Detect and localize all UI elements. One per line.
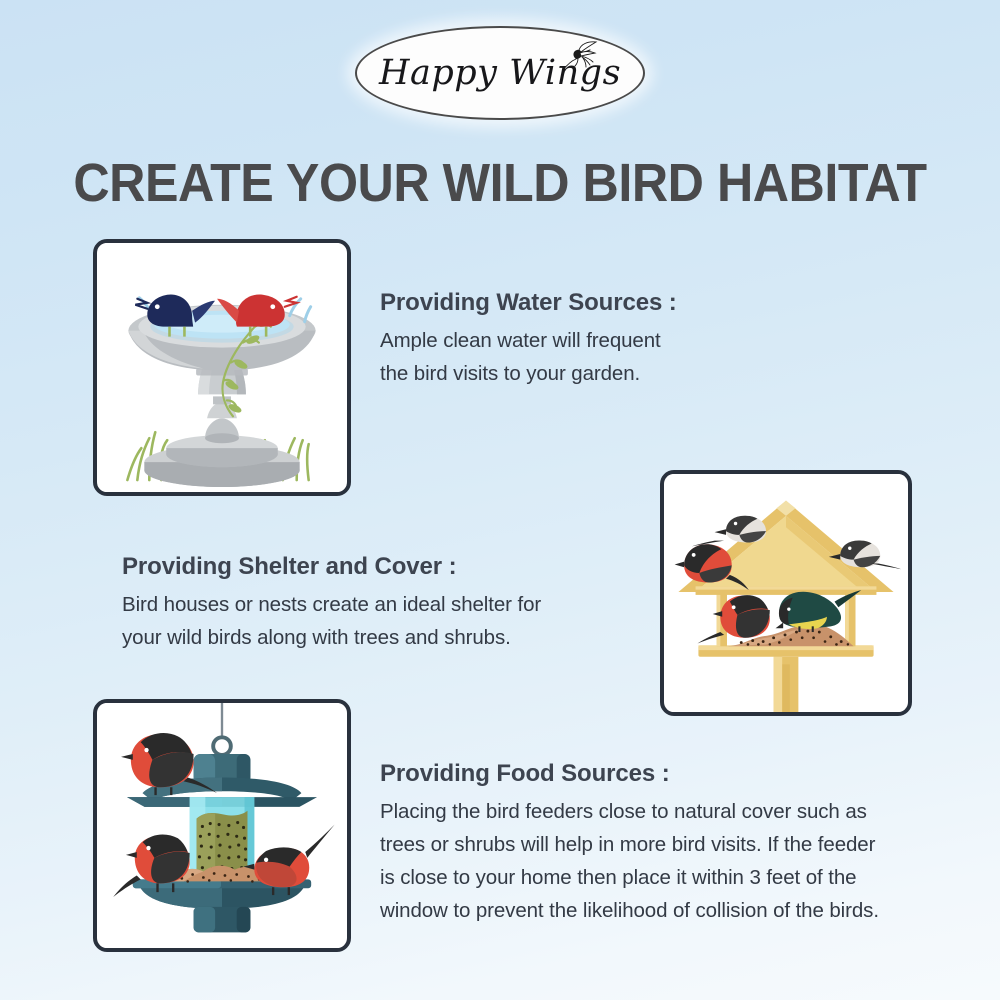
brand-logo: Happy Wings bbox=[355, 26, 645, 120]
bird-bath-image-frame bbox=[93, 239, 351, 496]
bird-bath-illustration bbox=[97, 243, 347, 492]
section-water: Providing Water Sources : Ample clean wa… bbox=[380, 289, 800, 390]
bird-house-feeder-illustration bbox=[664, 474, 908, 712]
section-water-body: Ample clean water will frequent the bird… bbox=[380, 324, 800, 390]
tube-feeder-image-frame bbox=[93, 699, 351, 952]
section-shelter: Providing Shelter and Cover : Bird house… bbox=[122, 553, 662, 654]
hummingbird-icon bbox=[557, 40, 601, 74]
section-food-heading: Providing Food Sources : bbox=[380, 760, 990, 788]
page-title: CREATE YOUR WILD BIRD HABITAT bbox=[35, 152, 965, 214]
section-food: Providing Food Sources : Placing the bir… bbox=[380, 760, 990, 927]
infographic-poster: Happy Wings CREATE YOUR WILD BIRD HABITA… bbox=[0, 0, 1000, 1000]
hanging-tube-feeder-illustration bbox=[97, 703, 347, 948]
bird-house-image-frame bbox=[660, 470, 912, 716]
section-shelter-heading: Providing Shelter and Cover : bbox=[122, 553, 662, 581]
section-shelter-body: Bird houses or nests create an ideal she… bbox=[122, 588, 662, 654]
logo-wordmark: Happy Wings bbox=[355, 53, 645, 93]
section-water-heading: Providing Water Sources : bbox=[380, 289, 800, 317]
section-food-body: Placing the bird feeders close to natura… bbox=[380, 795, 990, 927]
